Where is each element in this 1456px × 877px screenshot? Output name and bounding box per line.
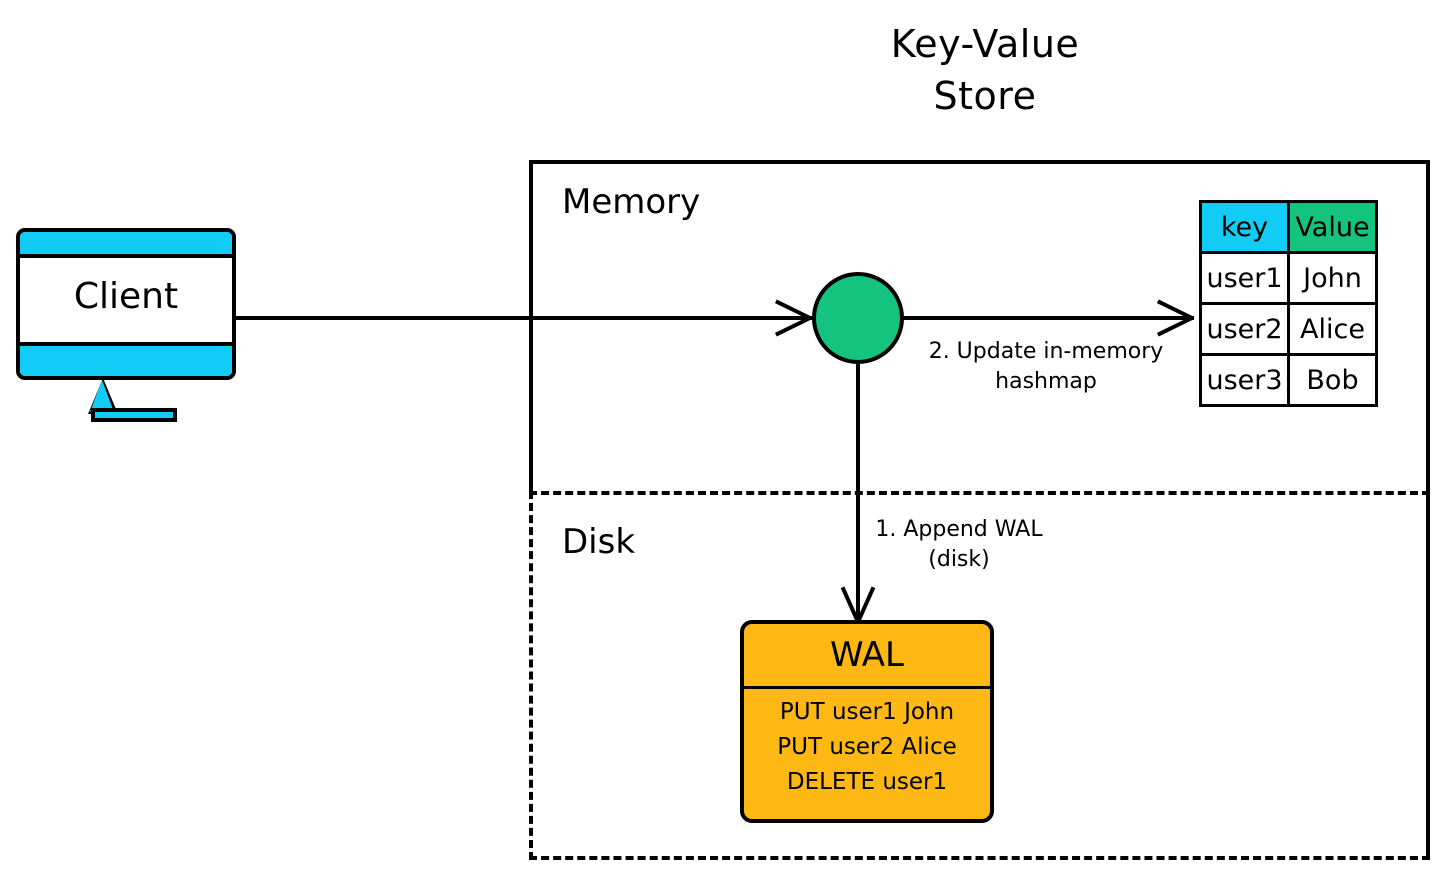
- edge-client-to-node: [236, 316, 812, 320]
- wal-node: WAL PUT user1 John PUT user2 Alice DELET…: [740, 620, 994, 823]
- wal-entry: DELETE user1: [744, 765, 990, 800]
- arrowhead-into-node: [772, 316, 812, 320]
- edge-label-step-2: 2. Update in-memory hashmap: [912, 337, 1180, 397]
- monitor-icon: Client: [16, 228, 236, 380]
- table-header-key: key: [1201, 202, 1289, 253]
- table-cell-key: user1: [1201, 253, 1289, 304]
- memory-section-label: Memory: [562, 182, 700, 222]
- table-header-value: Value: [1289, 202, 1377, 253]
- wal-title: WAL: [744, 624, 990, 689]
- table-cell-value: John: [1289, 253, 1377, 304]
- wal-entry: PUT user2 Alice: [744, 730, 990, 765]
- hashmap-table: key Value user1 John user2 Alice user3 B…: [1199, 200, 1378, 407]
- monitor-top-band: [20, 232, 232, 258]
- wal-entry: PUT user1 John: [744, 695, 990, 730]
- table-row: user2 Alice: [1201, 304, 1377, 355]
- arrowhead-into-hashmap: [1154, 316, 1194, 320]
- diagram-canvas: Key-Value Store Memory Disk Client 2. Up…: [0, 0, 1456, 877]
- monitor-stand-base: [91, 408, 177, 422]
- table-cell-value: Alice: [1289, 304, 1377, 355]
- wal-entry-list: PUT user1 John PUT user2 Alice DELETE us…: [744, 689, 990, 800]
- table-row: user3 Bob: [1201, 355, 1377, 406]
- process-node-circle: [812, 272, 904, 364]
- table-cell-key: user3: [1201, 355, 1289, 406]
- client-label: Client: [20, 276, 232, 317]
- page-title: Key-Value Store: [760, 18, 1210, 122]
- client-node: Client: [16, 228, 236, 380]
- monitor-bottom-band: [20, 342, 232, 376]
- table-header-row: key Value: [1201, 202, 1377, 253]
- table-row: user1 John: [1201, 253, 1377, 304]
- table-cell-key: user2: [1201, 304, 1289, 355]
- edge-label-step-1: 1. Append WAL (disk): [862, 515, 1056, 575]
- edge-node-to-hashmap: [904, 316, 1194, 320]
- disk-section-label: Disk: [562, 522, 635, 562]
- arrowhead-into-wal: [856, 584, 860, 624]
- table-cell-value: Bob: [1289, 355, 1377, 406]
